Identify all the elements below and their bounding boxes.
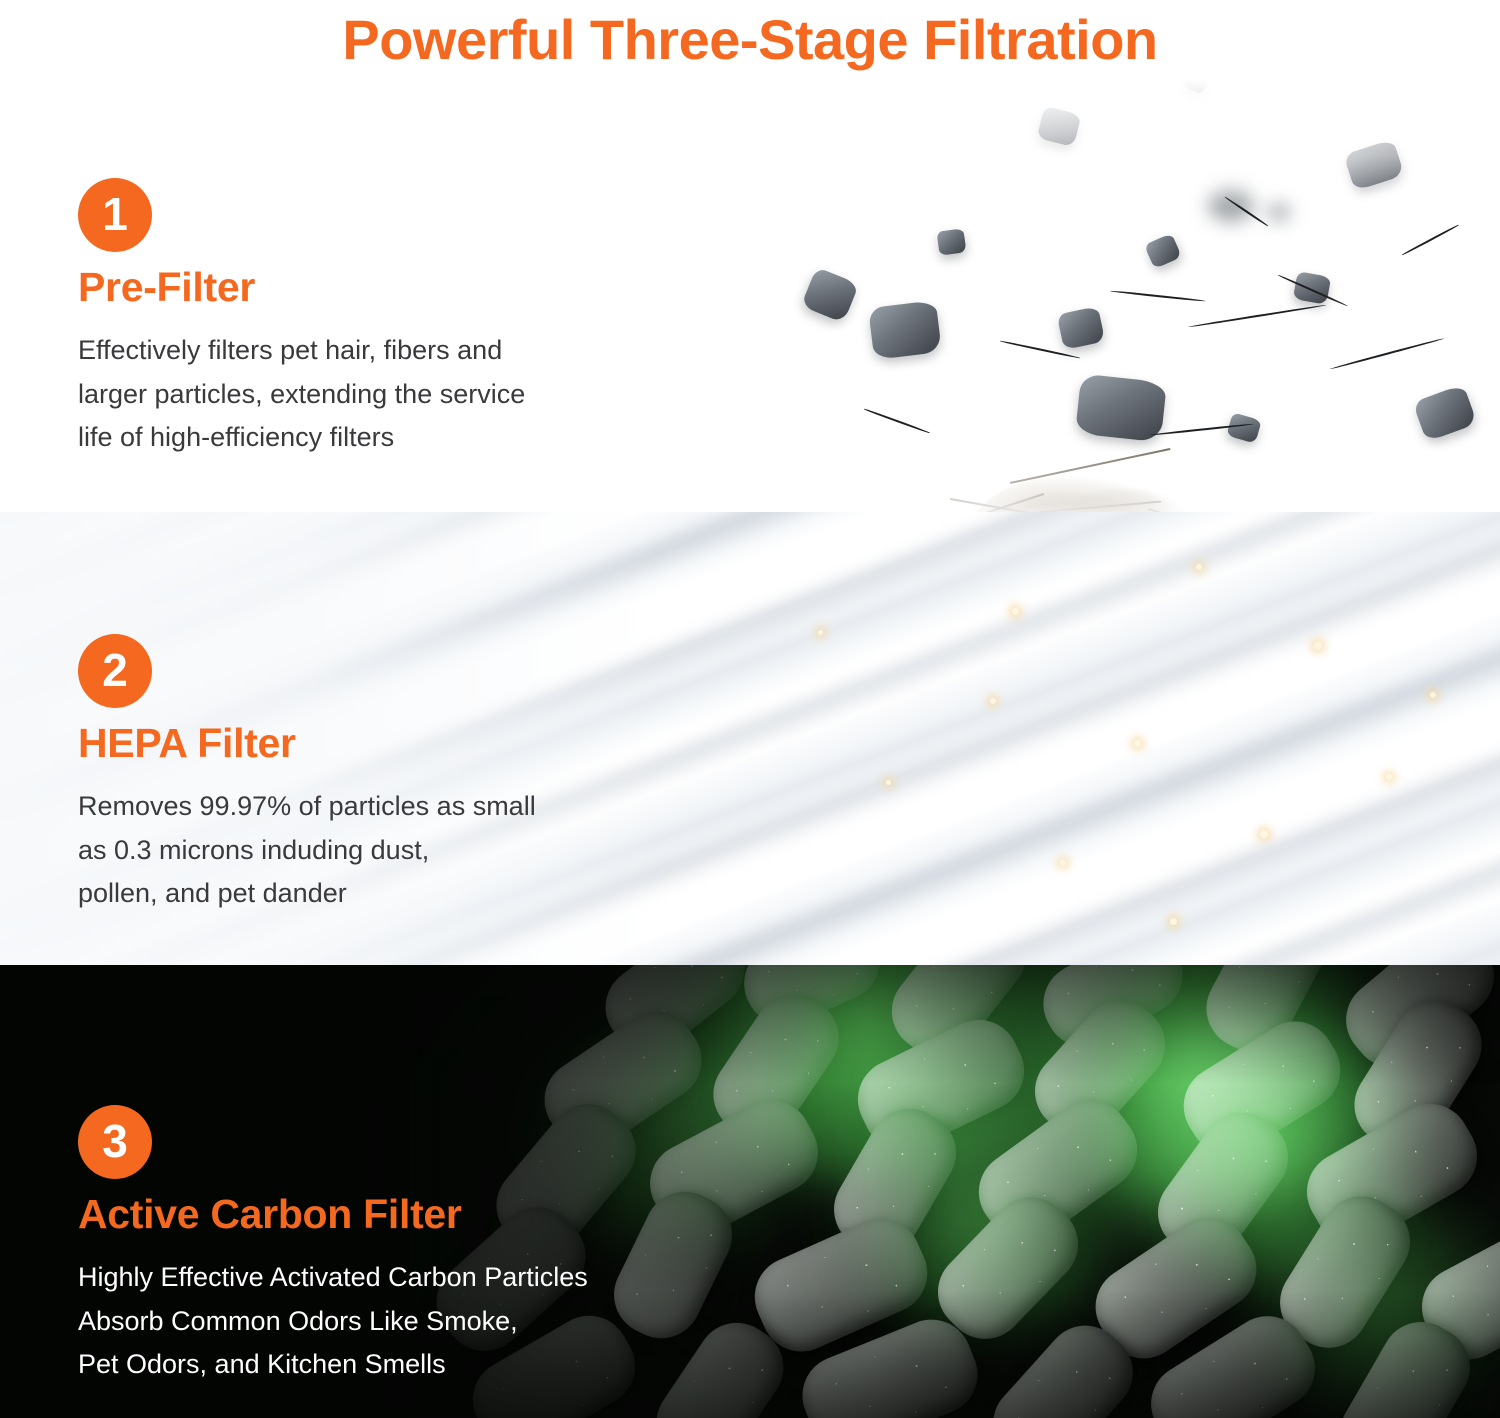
section-pre-filter: 1 Pre-Filter Effectively filters pet hai…	[0, 78, 1500, 512]
debris-chunk	[936, 228, 966, 256]
section-hepa-filter: 2 HEPA Filter Removes 99.97% of particle…	[0, 512, 1500, 965]
dust-sparkle	[1314, 642, 1322, 650]
step-number-3: 3	[102, 1118, 128, 1164]
section-1-body: Effectively filters pet hair, fibers and…	[78, 329, 525, 460]
section-active-carbon-filter: 3 Active Carbon Filter Highly Effective …	[0, 965, 1500, 1418]
step-badge-2: 2	[78, 634, 152, 708]
section-1-content: 1 Pre-Filter Effectively filters pet hai…	[78, 178, 525, 460]
page-title: Powerful Three-Stage Filtration	[342, 7, 1157, 72]
dust-sparkle	[1386, 774, 1392, 780]
section-2-content: 2 HEPA Filter Removes 99.97% of particle…	[78, 634, 536, 916]
section-3-content: 3 Active Carbon Filter Highly Effective …	[78, 1105, 588, 1387]
debris-chunk	[1144, 233, 1182, 269]
hair-fiber	[1330, 337, 1444, 369]
dust-sparkle	[1260, 830, 1268, 838]
dust-sparkle	[1196, 564, 1202, 570]
debris-chunk	[868, 300, 942, 360]
section-3-body: Highly Effective Activated Carbon Partic…	[78, 1256, 588, 1387]
dust-sparkle	[1060, 860, 1066, 866]
section-3-heading: Active Carbon Filter	[78, 1191, 588, 1238]
dust-sparkle	[886, 780, 891, 785]
hair-fiber	[1188, 304, 1327, 328]
section-1-heading: Pre-Filter	[78, 264, 525, 311]
debris-chunk	[1226, 412, 1261, 443]
golden-dust-particles	[570, 512, 1500, 965]
debris-chunk	[1412, 384, 1477, 442]
infographic-page: Powerful Three-Stage Filtration	[0, 0, 1500, 1418]
dust-sparkle	[1134, 740, 1141, 747]
debris-chunk	[801, 267, 859, 323]
dust-sparkle	[1012, 608, 1019, 615]
section-2-heading: HEPA Filter	[78, 720, 536, 767]
step-badge-1: 1	[78, 178, 152, 252]
page-title-bar: Powerful Three-Stage Filtration	[0, 0, 1500, 78]
step-number-1: 1	[102, 191, 128, 237]
dust-sparkle	[1430, 692, 1436, 698]
step-number-2: 2	[102, 647, 128, 693]
hair-fiber	[1402, 224, 1459, 255]
step-badge-3: 3	[78, 1105, 152, 1179]
dust-sparkle	[1170, 918, 1177, 925]
hair-fiber	[1110, 290, 1206, 302]
debris-chunk	[1075, 374, 1167, 443]
dust-sparkle	[990, 698, 996, 704]
debris-chunk	[1057, 306, 1106, 350]
hair-fiber	[864, 408, 930, 433]
dust-sparkle	[818, 630, 823, 635]
debris-chunk	[1293, 271, 1331, 304]
section-2-body: Removes 99.97% of particles as small as …	[78, 785, 536, 916]
